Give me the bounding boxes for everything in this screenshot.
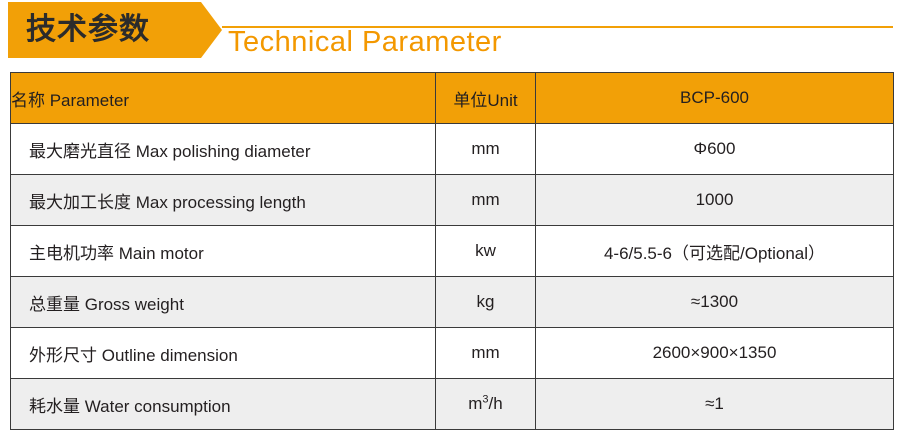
cell-value: ≈1 <box>536 379 894 430</box>
cell-unit: mm <box>436 328 536 379</box>
cell-unit: kw <box>436 226 536 277</box>
banner-title-en: Technical Parameter <box>228 27 502 57</box>
table-row: 耗水量 Water consumption m3/h ≈1 <box>11 379 894 430</box>
cell-value: 2600×900×1350 <box>536 328 894 379</box>
cell-parameter-name: 最大加工长度 Max processing length <box>11 175 436 226</box>
cell-unit: kg <box>436 277 536 328</box>
column-header-unit: 单位Unit <box>436 73 536 124</box>
table-row: 外形尺寸 Outline dimension mm 2600×900×1350 <box>11 328 894 379</box>
cell-parameter-name: 最大磨光直径 Max polishing diameter <box>11 124 436 175</box>
cell-parameter-name: 总重量 Gross weight <box>11 277 436 328</box>
table-row: 最大磨光直径 Max polishing diameter mm Φ600 <box>11 124 894 175</box>
unit-suffix: /h <box>489 394 503 413</box>
cell-value: 4-6/5.5-6（可选配/Optional） <box>536 226 894 277</box>
unit-base: m <box>468 394 482 413</box>
table-row: 最大加工长度 Max processing length mm 1000 <box>11 175 894 226</box>
page-header: 技术参数 Technical Parameter <box>0 0 900 62</box>
table-row: 主电机功率 Main motor kw 4-6/5.5-6（可选配/Option… <box>11 226 894 277</box>
column-header-parameter: 名称 Parameter <box>11 73 436 124</box>
banner-title-cn: 技术参数 <box>8 15 150 45</box>
cell-parameter-name: 主电机功率 Main motor <box>11 226 436 277</box>
table-row: 总重量 Gross weight kg ≈1300 <box>11 277 894 328</box>
table-head: 名称 Parameter 单位Unit BCP-600 <box>11 73 894 124</box>
cell-unit-cubic: m3/h <box>436 379 536 430</box>
column-header-model: BCP-600 <box>536 73 894 124</box>
cell-value: Φ600 <box>536 124 894 175</box>
cell-parameter-name: 外形尺寸 Outline dimension <box>11 328 436 379</box>
cell-value: ≈1300 <box>536 277 894 328</box>
table-body: 最大磨光直径 Max polishing diameter mm Φ600 最大… <box>11 124 894 430</box>
cell-unit: mm <box>436 124 536 175</box>
section-banner: 技术参数 <box>8 2 222 58</box>
cell-parameter-name: 耗水量 Water consumption <box>11 379 436 430</box>
table-header-row: 名称 Parameter 单位Unit BCP-600 <box>11 73 894 124</box>
spec-table-wrapper: 名称 Parameter 单位Unit BCP-600 最大磨光直径 Max p… <box>10 72 893 430</box>
cell-value: 1000 <box>536 175 894 226</box>
technical-parameter-table: 名称 Parameter 单位Unit BCP-600 最大磨光直径 Max p… <box>10 72 894 430</box>
cell-unit: mm <box>436 175 536 226</box>
